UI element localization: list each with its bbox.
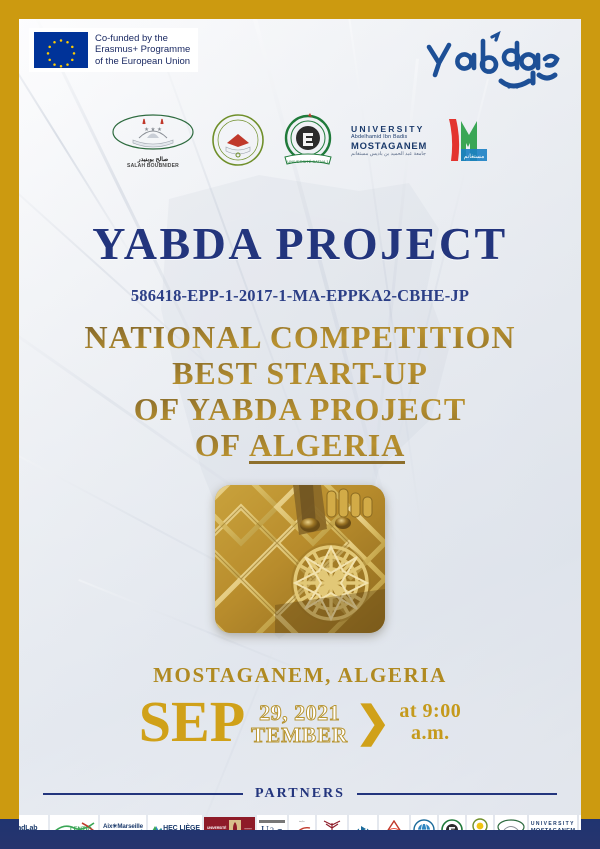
mostaganem-partner-line-2: MOSTAGANEM (531, 828, 576, 830)
event-date-tail: 29, 2021 TEMBER (251, 702, 348, 747)
partners-heading: PARTNERS (19, 785, 581, 803)
aix-marseille-name: Aix✳Marseille (103, 823, 143, 830)
headline-country-underlined: ALGERIA (249, 430, 405, 464)
headline-line-1: NATIONAL COMPETITION (19, 319, 581, 355)
mostaganem-arabic: جامعة عبد الحميد بن باديس مستغانم (351, 151, 426, 157)
marrakech-logo: MARRAKECH (317, 815, 347, 830)
universite-batna-1-logo: UNIVERSITÉ BATNA 1 (279, 113, 337, 167)
svg-text:U: U (261, 824, 269, 830)
hec-liege-logo: HEC LIÈGE Management School (148, 815, 202, 830)
partners-rule-right (357, 793, 557, 795)
yabda-logo (417, 29, 567, 91)
event-time-line-1: at 9:00 (399, 700, 461, 722)
lentic-logo: LENTIC Université de Liège (50, 815, 98, 830)
headline-line-2: BEST START-UP (19, 355, 581, 391)
event-date-row: SEP 29, 2021 TEMBER ❯ at 9:00 a.m. (19, 687, 581, 757)
mostaganem-m-logo: مستغانم (445, 115, 491, 165)
event-time: at 9:00 a.m. (399, 700, 461, 744)
svg-text:مستغانم: مستغانم (464, 153, 485, 160)
university-mostaganem-partner-logo: UNIVERSITY MOSTAGANEM جامعة عبد الحميد ب… (529, 815, 578, 830)
partners-logo-strip: ReadLab RESEARCH & DEVELOPMENT LENTIC Un… (27, 813, 573, 830)
poster-canvas: Co-funded by the Erasmus+ Programme of t… (19, 19, 581, 830)
universite-arabe-logo: جامعة (289, 815, 315, 830)
page-title: YABDA PROJECT (19, 217, 581, 270)
headline-block: NATIONAL COMPETITION BEST START-UP OF YA… (19, 319, 581, 464)
chevron-right-icon: ❯ (355, 701, 390, 743)
u2hi-tunis-logo: U 2 ح Tunisie (257, 815, 287, 830)
aix-marseille-universite-logo: Aix✳Marseille UNIVERSITÉ (100, 815, 146, 830)
golden-ornate-door-photo (215, 485, 385, 633)
partner-blue-globe-logo (411, 815, 437, 830)
mostaganem-line-3: MOSTAGANEM (351, 140, 427, 151)
event-day-year: 29, 2021 (259, 702, 340, 724)
project-code: 586418-EPP-1-2017-1-MA-EPPKA2-CBHE-JP (19, 286, 581, 306)
mostaganem-m-partner-logo (579, 815, 581, 830)
university-logo-row: ★ ★ ★ صالح بوبنيدر SALAH BOUBNIDER (19, 107, 581, 173)
readlab-name: ReadLab (19, 825, 46, 830)
erasmus-eu-flag-icon (34, 32, 88, 68)
eu-line-2: Erasmus+ Programme (95, 44, 190, 55)
partners-label: PARTNERS (255, 786, 345, 802)
universite-cadi-ayyad-logo: UNIVERSITÉ CADI AYYAD ــــــــــــــ (204, 817, 255, 830)
svg-text:★ ★ ★: ★ ★ ★ (144, 126, 162, 133)
erasmus-eu-badge: Co-funded by the Erasmus+ Programme of t… (29, 28, 198, 72)
svg-text:UNIVERSITÉ BATNA 1: UNIVERSITÉ BATNA 1 (287, 159, 329, 164)
svg-text:ح: ح (277, 825, 283, 830)
headline-line-4: OF ALGERIA (19, 427, 581, 464)
event-month-tail: TEMBER (251, 724, 348, 747)
event-time-line-2: a.m. (411, 722, 450, 744)
erasmus-eu-text: Co-funded by the Erasmus+ Programme of t… (95, 33, 190, 67)
headline-line-3: OF YABDA PROJECT (19, 391, 581, 427)
salah-boubnider-logo: ★ ★ ★ صالح بوبنيدر SALAH BOUBNIDER (109, 112, 197, 169)
tlemcen-logo (379, 815, 409, 830)
salah-boubnider-latin: SALAH BOUBNIDER (127, 163, 179, 169)
eu-line-3: of the European Union (95, 56, 190, 67)
event-city: MOSTAGANEM, ALGERIA (19, 663, 581, 688)
event-month-abbrev: SEP (139, 693, 245, 751)
oran-logo (349, 815, 377, 830)
eu-line-1: Co-funded by the (95, 33, 190, 44)
universite-batna-logo (439, 815, 465, 830)
partners-rule-left (43, 793, 243, 795)
hec-liege-name: HEC LIÈGE (163, 825, 200, 830)
svg-text:LENTIC: LENTIC (70, 827, 92, 830)
mostaganem-line-1: UNIVERSITY (351, 124, 425, 134)
mostaganem-partner-line-1: UNIVERSITY (531, 821, 575, 828)
universite-constantine-logo: جامعة (495, 815, 527, 830)
salah-boubnider-arabic: صالح بوبنيدر (138, 156, 168, 163)
university-mostaganem-logo: UNIVERSITY Abdelhamid Ibn Badis MOSTAGAN… (351, 124, 431, 157)
universite-de-blida-2-logo (211, 113, 265, 167)
svg-text:2: 2 (270, 826, 274, 830)
poster-root: Co-funded by the Erasmus+ Programme of t… (0, 0, 600, 849)
universite-setif-logo: BATNA 1 (467, 815, 493, 830)
poster-header: Co-funded by the Erasmus+ Programme of t… (19, 19, 581, 94)
headline-line-4-prefix: OF (195, 427, 249, 463)
readlab-logo: ReadLab RESEARCH & DEVELOPMENT (19, 815, 48, 830)
